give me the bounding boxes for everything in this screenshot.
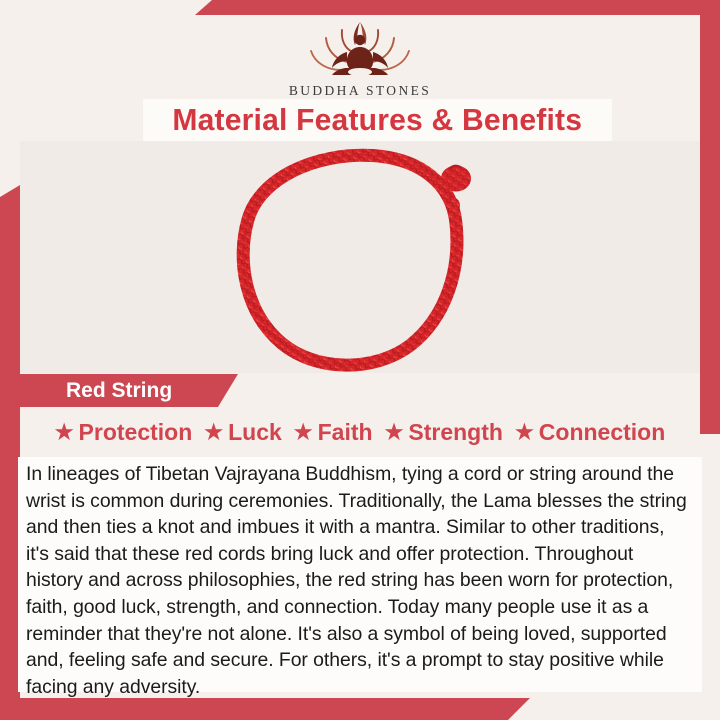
description-paragraph: In lineages of Tibetan Vajrayana Buddhis… — [26, 461, 692, 700]
star-icon: ★ — [204, 422, 223, 443]
page-title: Material Features & Benefits — [173, 102, 583, 138]
infographic-poster: BUDDHA STONES Material Features & Benefi… — [0, 0, 720, 720]
star-icon: ★ — [294, 422, 313, 443]
star-icon: ★ — [385, 422, 404, 443]
star-icon: ★ — [55, 422, 74, 443]
benefit-label: Luck — [228, 419, 282, 446]
benefit-label: Protection — [79, 419, 193, 446]
red-braided-string-bracelet-icon — [220, 141, 500, 373]
benefit-item: ★ Connection — [509, 419, 671, 446]
star-icon: ★ — [515, 422, 534, 443]
benefit-label: Faith — [318, 419, 373, 446]
header-title-band: Material Features & Benefits — [143, 99, 612, 141]
product-label: Red String — [20, 379, 172, 403]
benefit-label: Connection — [539, 419, 666, 446]
benefit-label: Strength — [408, 419, 503, 446]
decorative-left-red-bar — [0, 185, 20, 720]
lotus-meditation-icon — [301, 18, 419, 80]
product-label-banner: Red String — [20, 374, 238, 407]
benefits-list: ★ Protection ★ Luck ★ Faith ★ Strength ★… — [0, 419, 720, 446]
description-panel: In lineages of Tibetan Vajrayana Buddhis… — [18, 457, 702, 692]
decorative-bottom-red-bar — [0, 698, 530, 720]
benefit-item: ★ Strength — [379, 419, 509, 446]
brand-logo: BUDDHA STONES — [0, 18, 720, 99]
benefit-item: ★ Protection — [49, 419, 199, 446]
product-photo — [20, 141, 700, 373]
brand-name: BUDDHA STONES — [289, 83, 431, 99]
decorative-top-red-bar — [195, 0, 720, 15]
benefit-item: ★ Luck — [198, 419, 288, 446]
benefit-item: ★ Faith — [288, 419, 379, 446]
